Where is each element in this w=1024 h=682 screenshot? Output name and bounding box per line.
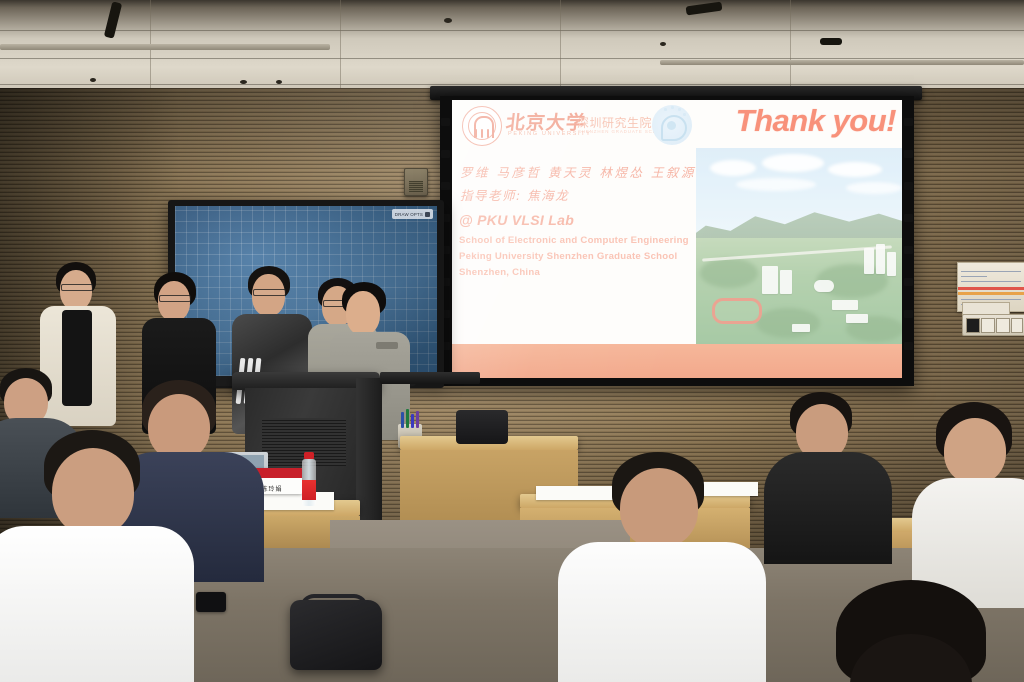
wall-speaker-icon: [404, 168, 428, 196]
affiliation-line-1: School of Electronic and Computer Engine…: [459, 235, 689, 246]
smartboard-toolbar-icon[interactable]: [425, 212, 430, 217]
chair-center[interactable]: [456, 410, 508, 444]
av-rail: [380, 372, 480, 384]
smartboard-toolbar-label: DRAW OPTS: [395, 212, 423, 217]
ceiling-mounted-fixture-2: [686, 2, 723, 16]
ceiling-mounted-fixture: [104, 1, 122, 38]
projected-slide: 北京大学 PEKING UNIVERSITY 深圳研究生院 SHENZHEN G…: [452, 100, 902, 378]
smartboard-toolbar[interactable]: DRAW OPTS: [392, 209, 433, 219]
thank-you-heading: Thank you!: [736, 103, 896, 139]
lecture-room-photo: 北京大学 PEKING UNIVERSITY 深圳研究生院 SHENZHEN G…: [0, 0, 1024, 682]
backpack[interactable]: [290, 600, 382, 670]
light-switch-panel[interactable]: [962, 314, 1024, 336]
slide-footer-band: [452, 344, 902, 378]
advisor-line: 指导老师: 焦海龙: [460, 185, 569, 204]
ceiling: [0, 0, 1024, 96]
glasses-icon: [159, 295, 191, 302]
affiliation-line-3: Shenzhen, China: [459, 267, 540, 278]
author-names: 罗维 马彦哲 黄天灵 林煜怂 王叙源: [460, 162, 696, 181]
lab-name: @ PKU VLSI Lab: [459, 212, 574, 228]
campus-aerial-photo: [696, 148, 902, 344]
glasses-icon: [253, 289, 286, 296]
smartphone[interactable]: [196, 592, 226, 612]
ceiling-mounted-fixture-3: [820, 38, 842, 45]
blue-institute-logo-icon: [652, 105, 692, 145]
affiliation-line-2: Peking University Shenzhen Graduate Scho…: [459, 251, 677, 262]
glasses-icon: [61, 284, 93, 291]
water-bottle-1[interactable]: [300, 452, 318, 506]
pku-seal-icon: [462, 106, 502, 146]
